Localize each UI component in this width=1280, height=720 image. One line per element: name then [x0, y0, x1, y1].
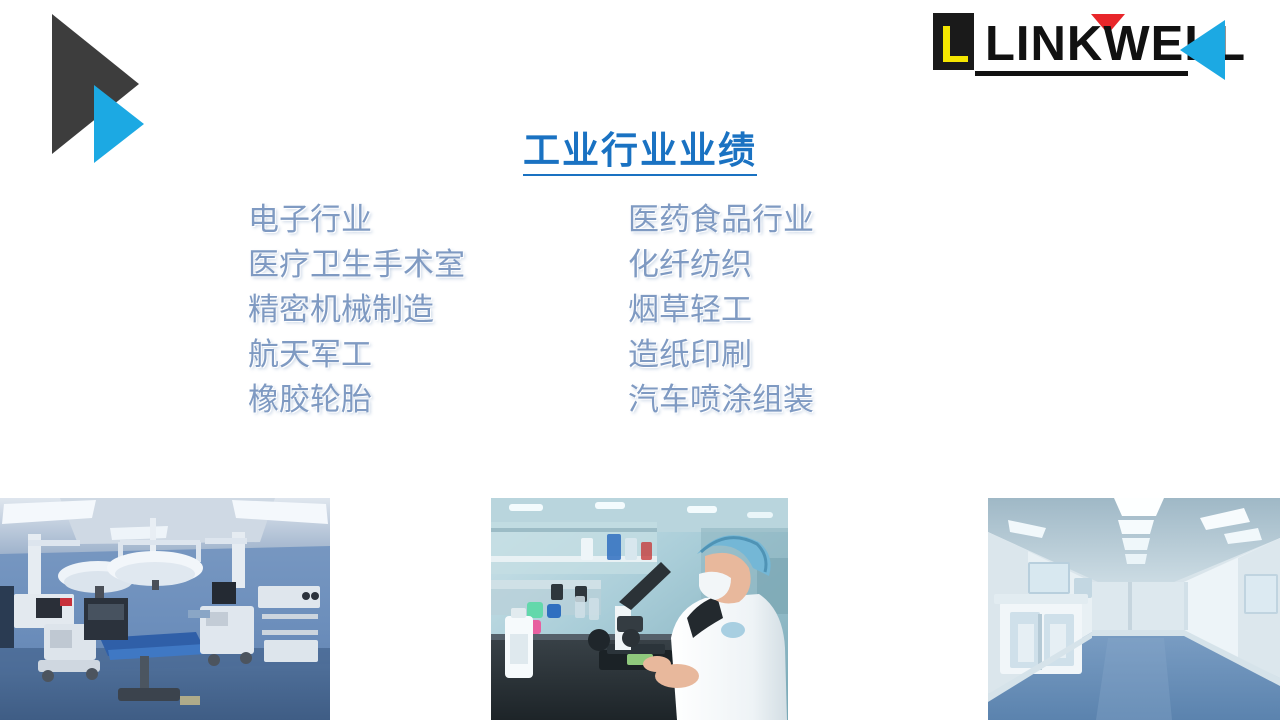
industry-column-right: 医药食品行业 化纤纺织 烟草轻工 造纸印刷 汽车喷涂组装: [160, 198, 1008, 423]
linkwell-logo: LINKWELL: [933, 13, 1233, 79]
list-item: 化纤纺织: [628, 243, 1008, 288]
page-title: 工业行业业绩: [0, 120, 1280, 174]
list-item: 烟草轻工: [628, 288, 1008, 333]
logo-underline-bar: [975, 71, 1188, 76]
logo-blue-triangle-icon: [1180, 20, 1225, 80]
cleanroom-corridor-photo: [988, 498, 1280, 720]
operating-room-photo: [0, 498, 330, 720]
list-item: 汽车喷涂组装: [628, 378, 1008, 423]
page-title-text: 工业行业业绩: [523, 129, 757, 176]
logo-yellow-l-icon: [943, 26, 968, 62]
list-item: 造纸印刷: [628, 333, 1008, 378]
presentation-slide: LINKWELL 工业行业业绩 电子行业 医疗卫生手术室 精密机械制造 航天军工…: [0, 0, 1280, 720]
list-item: 医药食品行业: [628, 198, 1008, 243]
industry-list: 电子行业 医疗卫生手术室 精密机械制造 航天军工 橡胶轮胎 医药食品行业 化纤纺…: [248, 198, 1008, 423]
laboratory-microscope-photo: [491, 498, 788, 720]
